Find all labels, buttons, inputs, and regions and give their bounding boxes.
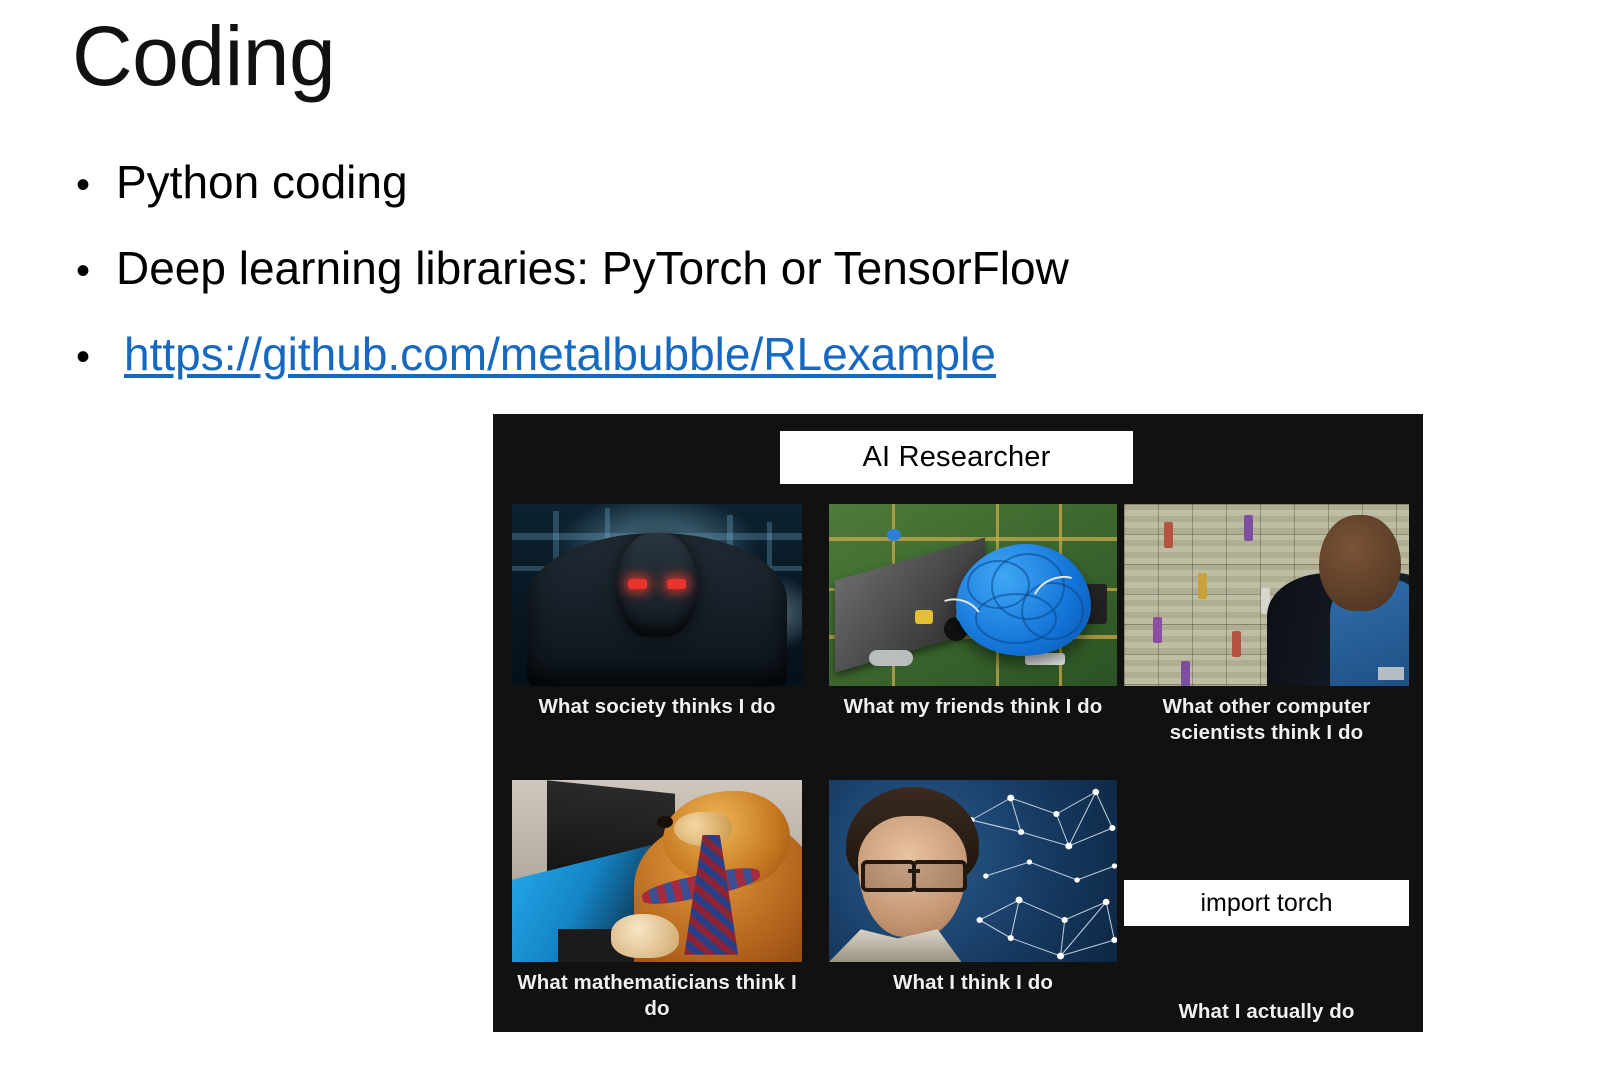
bullet-marker-icon: •: [72, 337, 116, 377]
import-torch-box: import torch: [1124, 880, 1409, 926]
brain-circuitboard-image: [829, 504, 1117, 686]
import-torch-label: import torch: [1201, 889, 1333, 918]
bullet-list: • Python coding • Deep learning librarie…: [72, 158, 1372, 416]
list-item: • https://github.com/metalbubble/RLexamp…: [72, 330, 1372, 416]
meme-caption-actually-do: What I actually do: [1124, 999, 1409, 1025]
researcher-portrait-image: [829, 780, 1117, 962]
bullet-marker-icon: •: [72, 251, 116, 291]
meme-caption-other-scientists: What other computerscientists think I do: [1124, 694, 1409, 746]
meme-caption-society: What society thinks I do: [512, 694, 802, 720]
github-repo-link[interactable]: https://github.com/metalbubble/RLexample: [116, 330, 996, 378]
meme-header-label-box: AI Researcher: [780, 431, 1133, 484]
meme-caption-friends: What my friends think I do: [829, 694, 1117, 720]
meme-cell-society: What society thinks I do: [512, 504, 802, 720]
list-item: • Deep learning libraries: PyTorch or Te…: [72, 244, 1372, 330]
meme-cell-other-scientists: What other computerscientists think I do: [1124, 504, 1409, 746]
meme-header-label: AI Researcher: [863, 441, 1051, 474]
bullet-marker-icon: •: [72, 165, 116, 205]
meme-cell-friends: What my friends think I do: [829, 504, 1117, 720]
meme-cell-mathematicians: What mathematicians think I do: [512, 780, 802, 1022]
meme-image-panel: AI Researcher What society thinks I do: [493, 414, 1423, 1032]
dog-at-laptop-image: [512, 780, 802, 962]
bullet-text-deep-learning-libraries: Deep learning libraries: PyTorch or Tens…: [116, 244, 1069, 292]
list-item: • Python coding: [72, 158, 1372, 244]
meme-caption-i-think: What I think I do: [829, 970, 1117, 996]
terminator-image: [512, 504, 802, 686]
bullet-text-python-coding: Python coding: [116, 158, 408, 206]
page-title: Coding: [72, 14, 335, 98]
meme-cell-i-think: What I think I do: [829, 780, 1117, 996]
network-graphic-icon: [961, 780, 1117, 962]
meme-caption-mathematicians: What mathematicians think I do: [512, 970, 802, 1022]
money-wall-man-image: [1124, 504, 1409, 686]
